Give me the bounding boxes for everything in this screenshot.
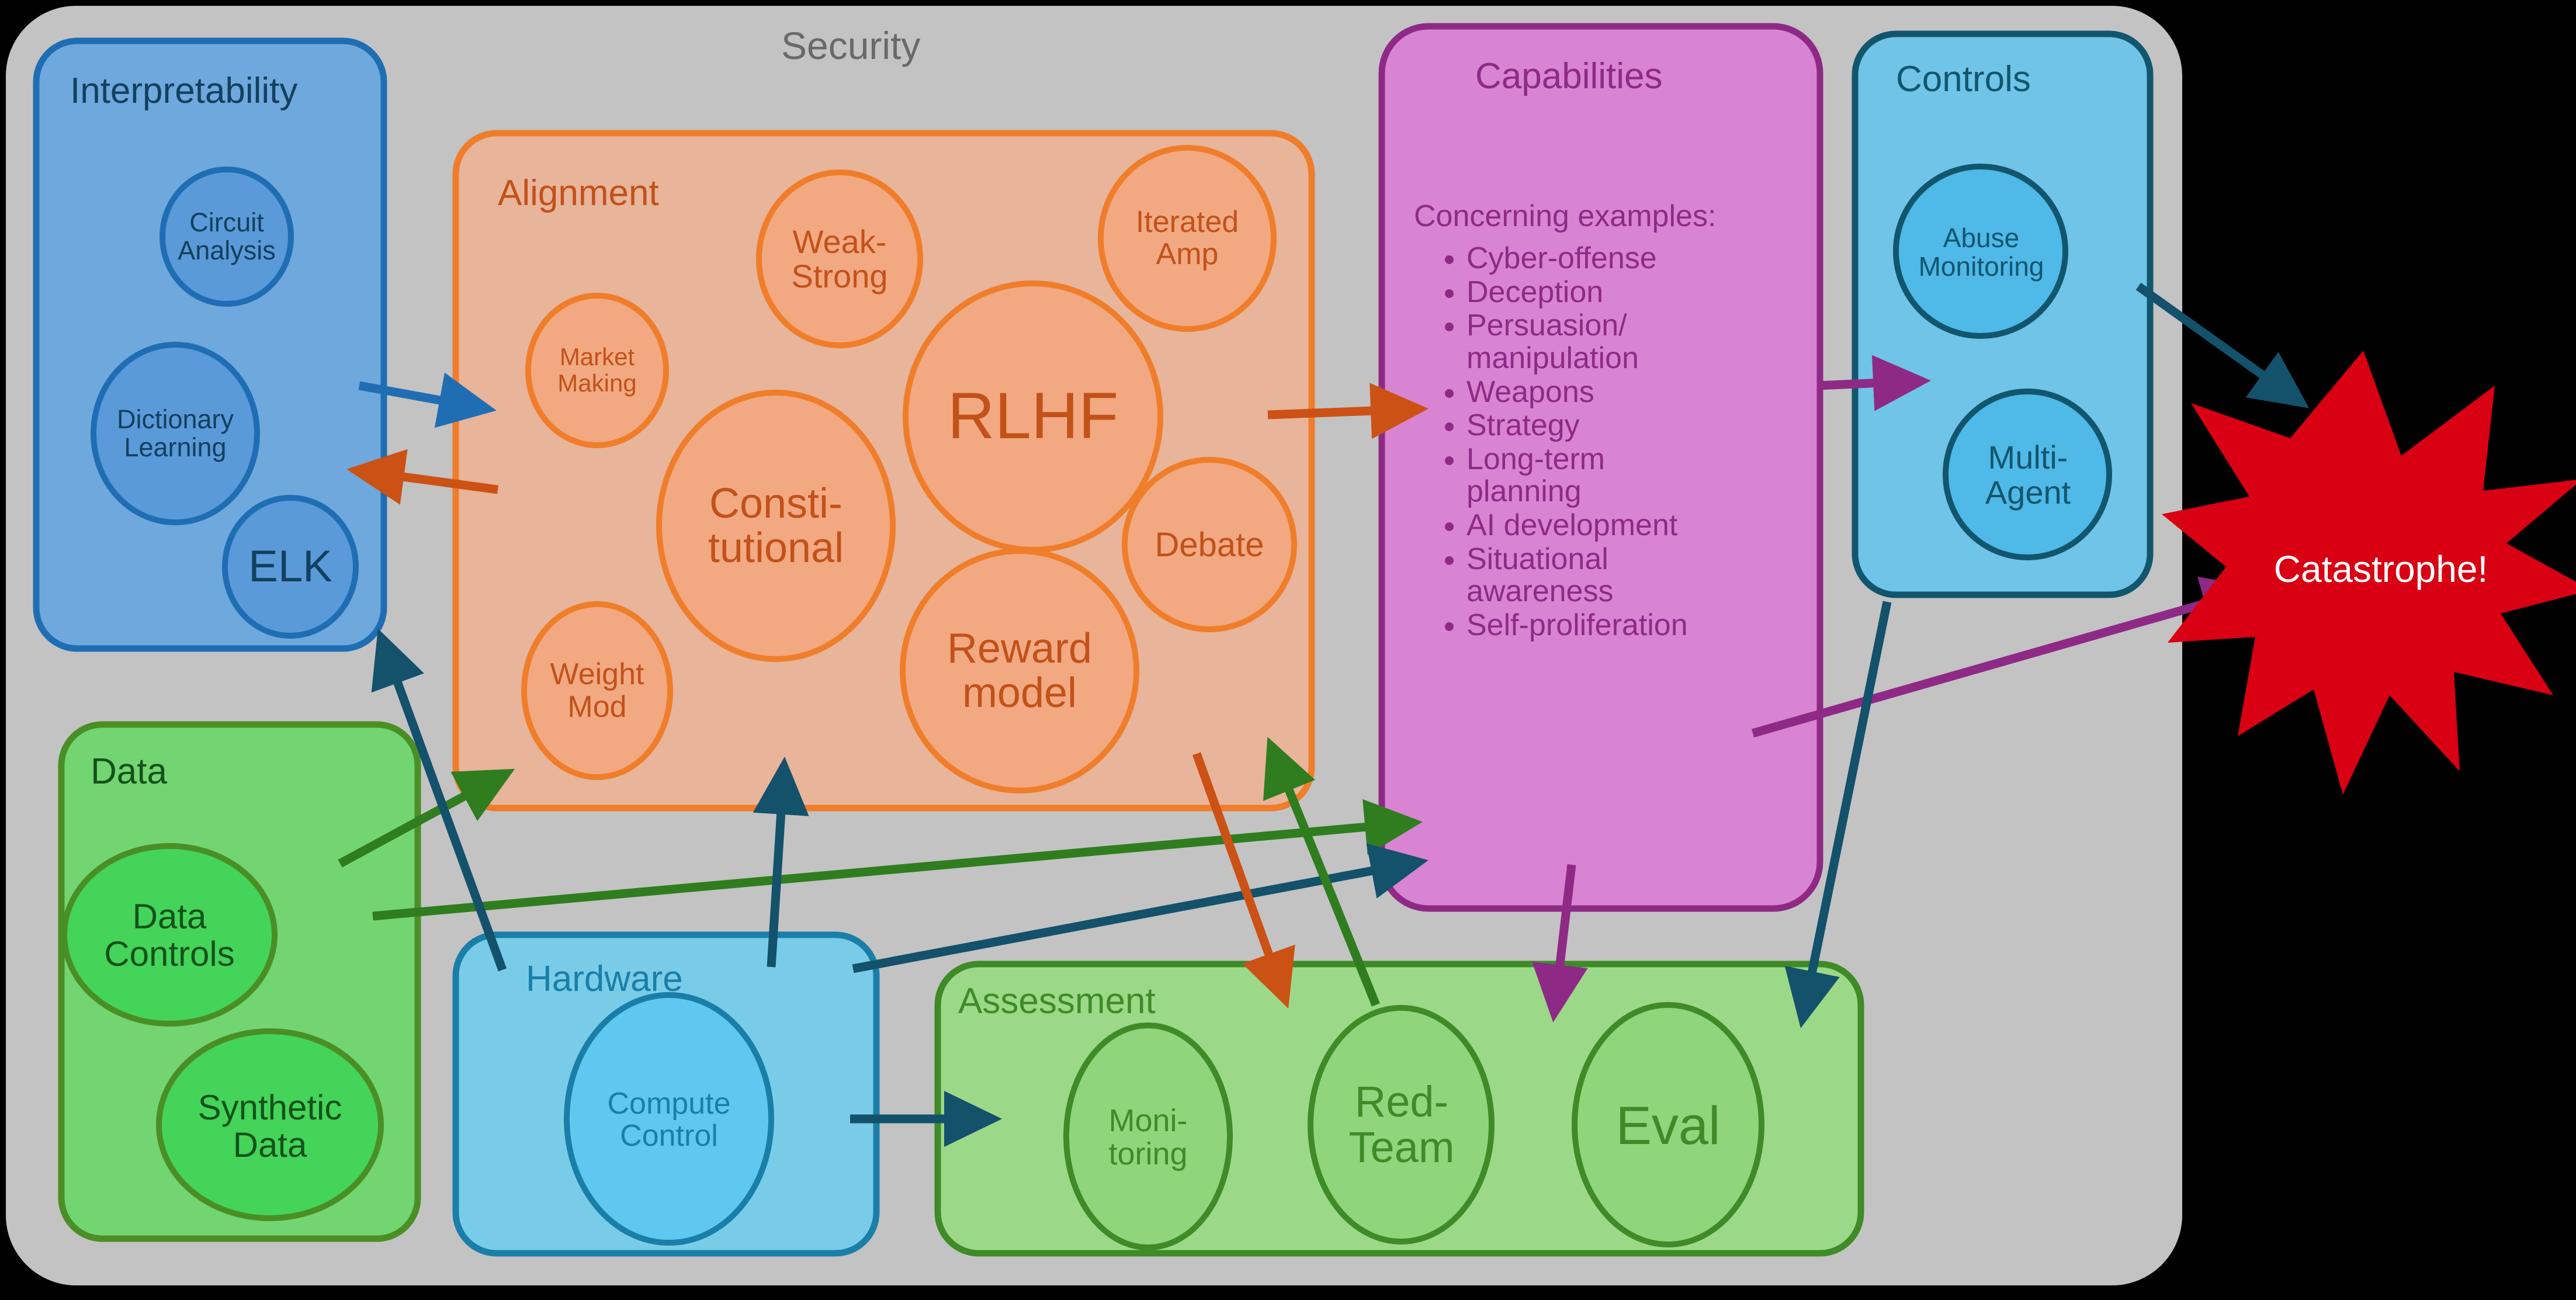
capabilities-list-item: Self-proliferation — [1466, 609, 1688, 642]
capabilities-list: Cyber-offenseDeceptionPersuasion/manipul… — [1414, 242, 1688, 643]
label-multi-agent: Multi-Agent — [1946, 429, 2110, 520]
label-monitoring: Moni-toring — [1072, 1091, 1224, 1184]
capabilities-list-item: Strategy — [1466, 410, 1688, 442]
capabilities-list-item: Long-termplanning — [1466, 443, 1688, 508]
label-abuse-monitoring: AbuseMonitoring — [1899, 209, 2064, 296]
capabilities-list-item: Persuasion/manipulation — [1466, 310, 1688, 375]
capabilities-list-heading: Concerning examples: — [1414, 199, 1716, 234]
label-iterated-amp: IteratedAmp — [1105, 192, 1269, 285]
label-debate: Debate — [1128, 519, 1291, 571]
capabilities-list-item: AI development — [1466, 509, 1688, 542]
capabilities-list-item: Cyber-offense — [1466, 242, 1688, 275]
label-dictionary-learning: DictionaryLearning — [93, 387, 257, 480]
label-reward-model: Rewardmodel — [926, 615, 1113, 726]
label-synthetic-data: SyntheticData — [171, 1078, 369, 1174]
diagram-canvas: Security Interpretability Alignment Capa… — [0, 0, 2576, 1300]
arrow-alignment-to-capabilities — [1268, 409, 1420, 415]
label-eval: Eval — [1580, 1091, 1756, 1162]
capabilities-list-item: Deception — [1466, 276, 1688, 309]
label-elk: ELK — [226, 532, 355, 602]
label-red-team: Red-Team — [1319, 1072, 1484, 1177]
label-market-making: MarketMaking — [527, 328, 667, 412]
label-weak-strong: Weak-Strong — [758, 210, 921, 307]
label-data-controls: DataControls — [70, 887, 269, 983]
label-compute-control: ComputeControl — [575, 1074, 762, 1166]
label-catastrophe: Catastrophe! — [2246, 543, 2515, 596]
label-weight-mod: WeightMod — [527, 649, 667, 733]
arrow-capabilities-to-controls — [1817, 381, 1922, 386]
diagram-svg — [0, 0, 2576, 1300]
capabilities-list-item: Situationalawareness — [1466, 543, 1688, 608]
label-circuit-analysis: CircuitAnalysis — [162, 193, 291, 280]
capabilities-list-item: Weapons — [1466, 376, 1688, 409]
label-rlhf: RLHF — [934, 371, 1132, 462]
label-constitutional: Consti-tutional — [671, 470, 881, 581]
